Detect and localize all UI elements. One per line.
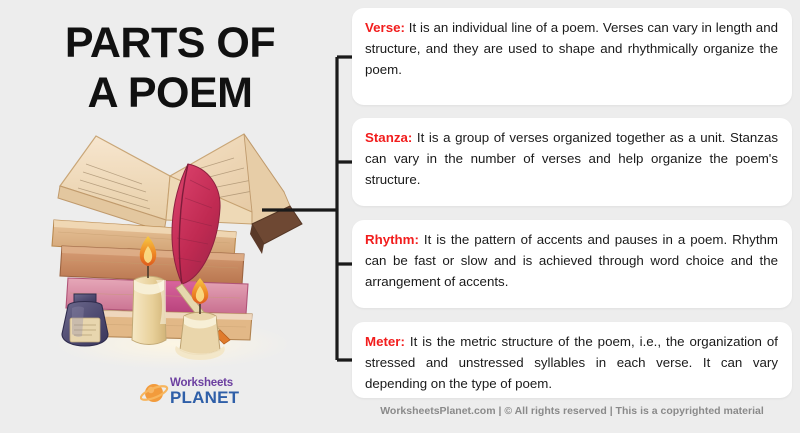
definition-description: It is a group of verses organized togeth…: [365, 130, 778, 187]
definition-cards: Verse: It is an individual line of a poe…: [352, 0, 800, 428]
definition-term: Rhythm:: [365, 232, 419, 247]
logo-wordmark: Worksheets PLANET: [170, 377, 265, 406]
left-column: PARTS OF A POEM: [0, 0, 340, 428]
page-title: PARTS OF A POEM: [0, 18, 340, 118]
logo-line-planet: PLANET: [170, 389, 265, 406]
copyright-footer: WorksheetsPlanet.com | © All rights rese…: [352, 404, 792, 418]
page-title-line-2: A POEM: [0, 68, 340, 118]
definition-term: Meter:: [365, 334, 405, 349]
planet-icon: [140, 380, 170, 406]
definition-card-text: Meter: It is the metric structure of the…: [365, 331, 778, 394]
definition-card-stanza: Stanza: It is a group of verses organize…: [352, 118, 792, 206]
definition-description: It is the pattern of accents and pauses …: [365, 232, 778, 289]
definition-description: It is an individual line of a poem. Vers…: [365, 20, 778, 77]
definition-card-text: Verse: It is an individual line of a poe…: [365, 17, 778, 80]
definition-card-rhythm: Rhythm: It is the pattern of accents and…: [352, 220, 792, 308]
page-title-line-1: PARTS OF: [0, 18, 340, 68]
definition-card-verse: Verse: It is an individual line of a poe…: [352, 8, 792, 105]
books-quill-candles-inkwell-illustration: [38, 128, 308, 376]
worksheets-planet-logo: Worksheets PLANET: [140, 376, 265, 410]
definition-card-text: Stanza: It is a group of verses organize…: [365, 127, 778, 190]
infographic-poster: PARTS OF A POEM: [0, 0, 800, 428]
definition-card-meter: Meter: It is the metric structure of the…: [352, 322, 792, 398]
definition-description: It is the metric structure of the poem, …: [365, 334, 778, 391]
definition-term: Stanza:: [365, 130, 412, 145]
definition-card-text: Rhythm: It is the pattern of accents and…: [365, 229, 778, 292]
definition-term: Verse:: [365, 20, 405, 35]
